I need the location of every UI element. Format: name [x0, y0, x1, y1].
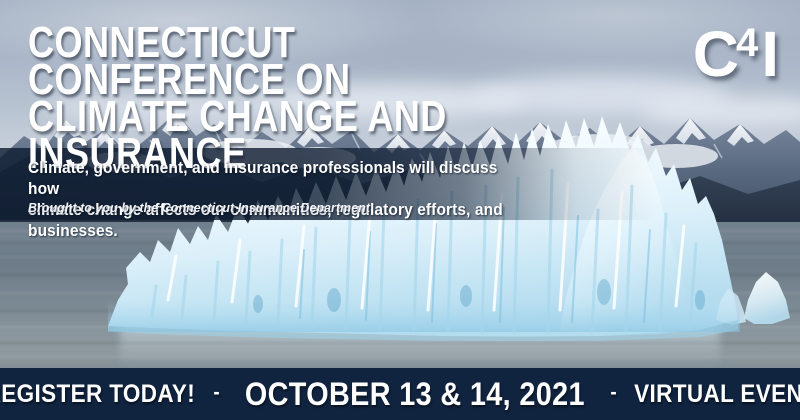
cta-bar[interactable]: REGISTER TODAY! - OCTOBER 13 & 14, 2021 …	[0, 368, 800, 420]
separator-dash-right: -	[605, 381, 622, 405]
c4i-logo: C 4 I	[693, 22, 778, 86]
logo-letter-i: I	[761, 22, 778, 86]
register-label[interactable]: REGISTER TODAY!	[0, 380, 195, 409]
attribution-text: Brought to you by the Connecticut Insura…	[28, 200, 370, 215]
page-title: CONNECTICUT CONFERENCE ON CLIMATE CHANGE…	[28, 24, 556, 172]
logo-superscript-4: 4	[736, 23, 757, 63]
event-date: OCTOBER 13 & 14, 2021	[245, 376, 585, 413]
logo-letter-c: C	[693, 22, 738, 86]
separator-dash-left: -	[208, 381, 225, 405]
conference-banner: CONNECTICUT CONFERENCE ON CLIMATE CHANGE…	[0, 0, 800, 420]
event-format: VIRTUAL EVENT	[634, 380, 800, 409]
